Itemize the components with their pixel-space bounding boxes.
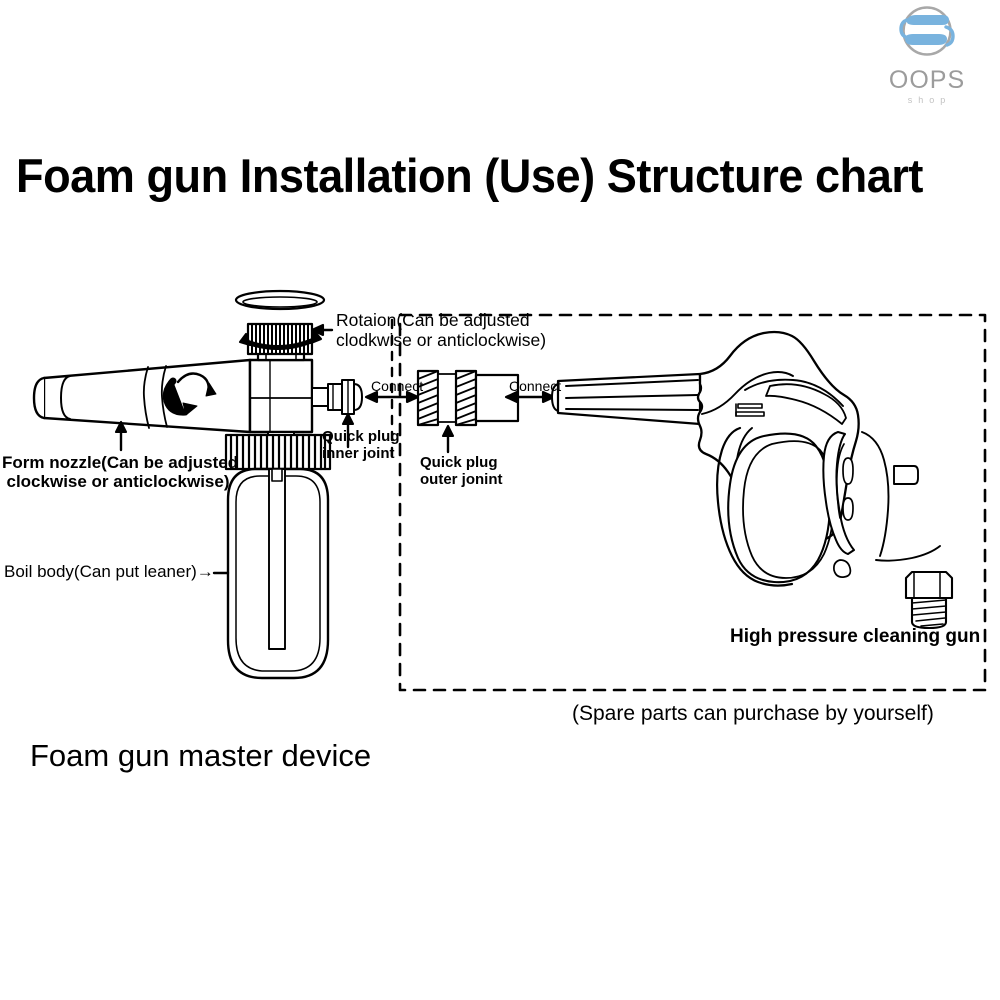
label-quick-plug-inner-joint: Quick plug inner joint	[322, 429, 400, 463]
rotation-knurled-adjuster-part	[236, 291, 324, 354]
device-caption: Foam gun master device	[30, 740, 371, 771]
structure-diagram-artwork	[0, 0, 1000, 1000]
label-boil-body: Boil body(Can put leaner)→	[4, 562, 214, 581]
foam-nozzle-part	[34, 360, 250, 432]
high-pressure-cleaning-gun-part	[552, 332, 952, 628]
spare-parts-note: (Spare parts can purchase by yourself)	[572, 703, 934, 724]
label-high-pressure-gun: High pressure cleaning gun	[730, 626, 980, 647]
quick-plug-outer-joint-part	[418, 371, 518, 452]
label-quick-plug-outer-joint: Quick plug outer jonint	[420, 455, 503, 489]
foam-bottle-part	[226, 435, 330, 678]
label-connect-left: Connect	[371, 379, 423, 395]
label-connect-right: Connect	[509, 379, 561, 395]
diagram-page: OOPS shop Foam gun Installation (Use) St…	[0, 0, 1000, 1000]
label-rotation: Rotaion(Can be adjusted clodkwise or ant…	[336, 311, 546, 350]
label-form-nozzle: Form nozzle(Can be adjusted clockwise or…	[2, 453, 234, 491]
